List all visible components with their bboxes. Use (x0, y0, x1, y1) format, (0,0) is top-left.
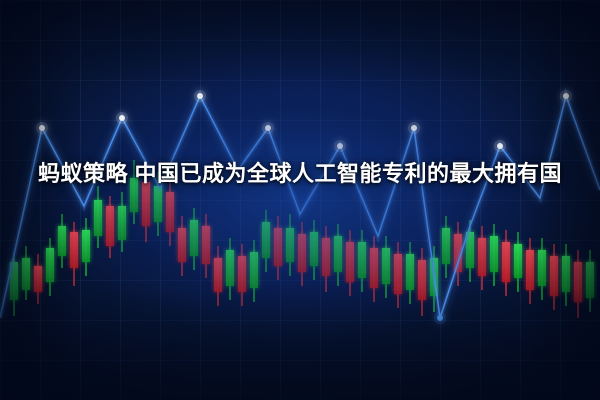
headline-text: 蚂蚁策略 中国已成为全球人工智能专利的最大拥有国 (0, 155, 600, 193)
vignette-overlay (0, 0, 600, 400)
headline-label: 蚂蚁策略 中国已成为全球人工智能专利的最大拥有国 (38, 161, 562, 186)
stock-chart-banner-image: 蚂蚁策略 中国已成为全球人工智能专利的最大拥有国 (0, 0, 600, 400)
